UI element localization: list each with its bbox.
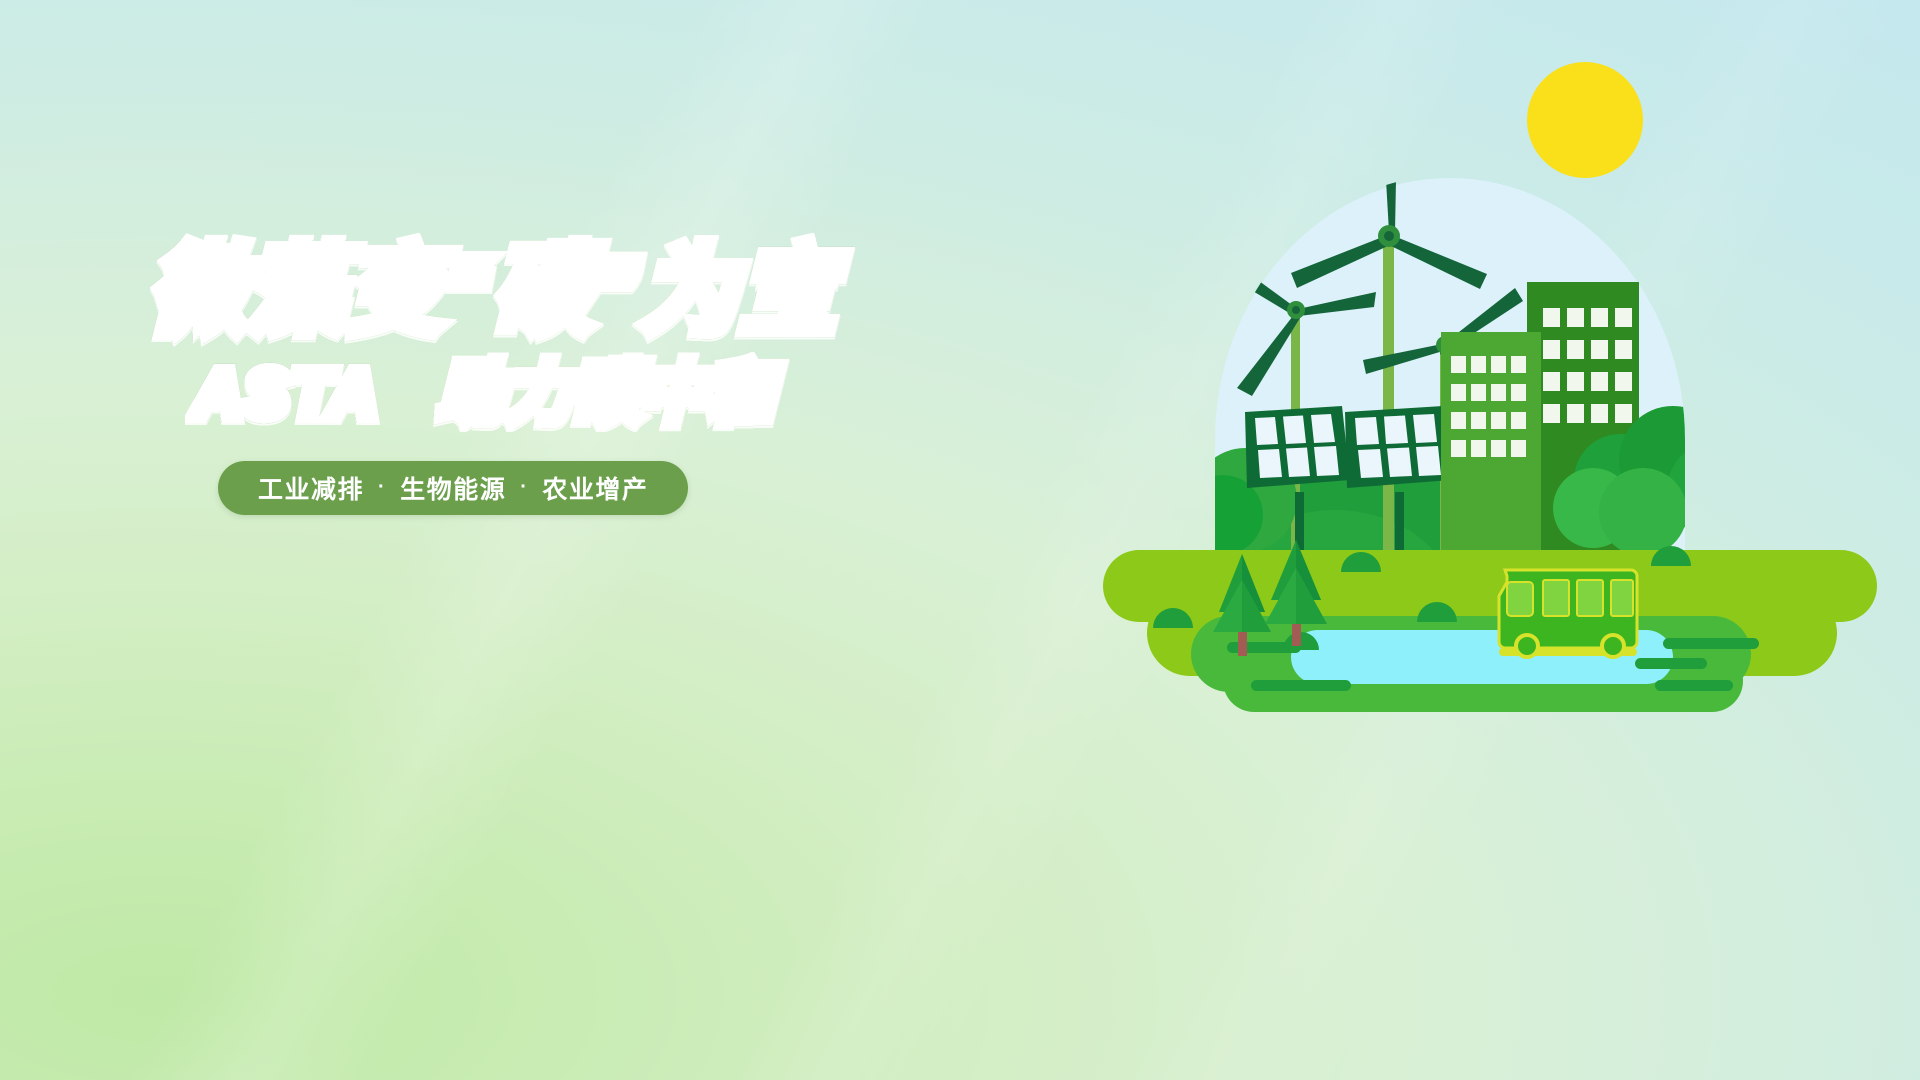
tagline-item-1: 生物能源 xyxy=(400,470,506,506)
eco-city-illustration xyxy=(1095,60,1885,760)
tagline-item-2: 农业增产 xyxy=(542,470,648,506)
sun-icon xyxy=(1527,62,1643,178)
subtitle-en: ASTA xyxy=(194,356,379,430)
tagline-pill: 工业减排 · 生物能源 · 农业增产 xyxy=(218,461,688,515)
page-subtitle: ASTA 助力碳中和 xyxy=(194,358,910,429)
page-title: 微藻变“碳”为宝 xyxy=(150,240,910,344)
building-short xyxy=(1441,332,1541,570)
hero-text-block: 微藻变“碳”为宝 ASTA 助力碳中和 工业减排 · 生物能源 · 农业增产 xyxy=(150,240,910,515)
subtitle-cn: 助力碳中和 xyxy=(438,356,775,430)
tagline-separator-0: · xyxy=(364,476,400,499)
tagline-separator-1: · xyxy=(506,476,542,499)
electric-bus xyxy=(1499,570,1637,657)
subtitle-spacer xyxy=(399,356,419,430)
tagline-item-0: 工业减排 xyxy=(258,470,364,506)
